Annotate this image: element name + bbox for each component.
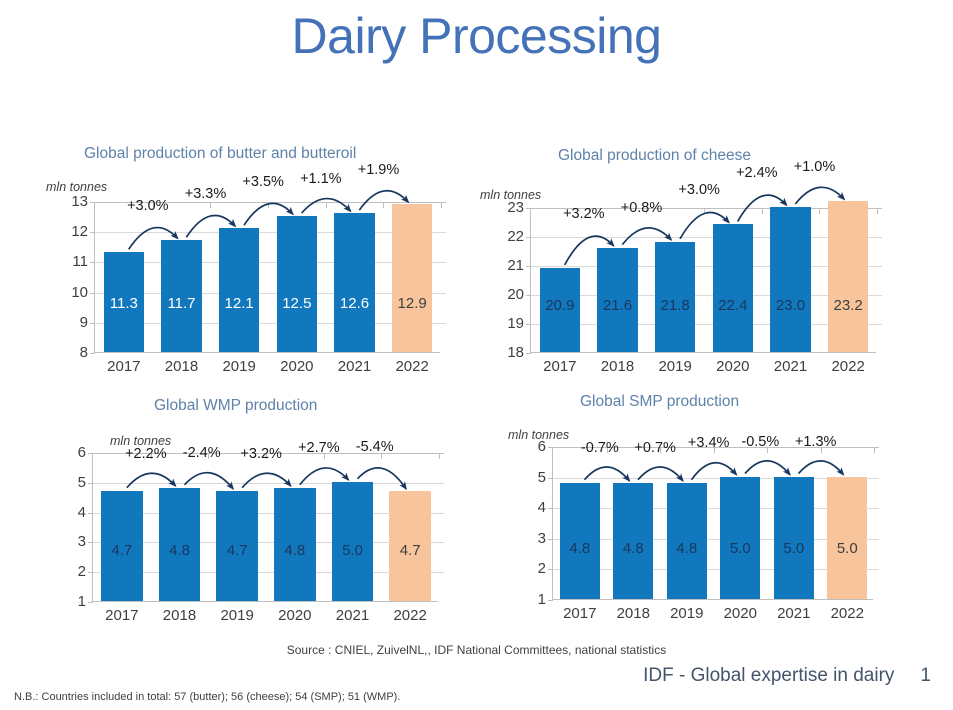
- growth-rate-label: +3.2%: [240, 446, 282, 462]
- growth-rate-label: -2.4%: [183, 445, 221, 461]
- y-axis-unit-label: mln tonnes: [46, 180, 107, 194]
- y-axis-tick-mark: [88, 453, 93, 454]
- y-axis-tick-label: 10: [71, 285, 88, 301]
- x-axis-tick-label: 2020: [704, 358, 762, 375]
- chart-cheese: Global production of cheese mln tonnes 2…: [480, 144, 930, 384]
- bar[interactable]: 21.6: [597, 248, 637, 352]
- bar-value-label: 23.0: [770, 298, 810, 314]
- bar-value-label: 11.3: [104, 296, 144, 312]
- bar[interactable]: 4.8: [667, 483, 707, 599]
- y-axis-tick-label: 23: [507, 200, 524, 216]
- growth-rate-label: +3.0%: [127, 198, 169, 214]
- bar-value-label: 12.5: [277, 296, 317, 312]
- y-axis-tick-mark: [548, 600, 553, 601]
- growth-rate-label: -5.4%: [356, 439, 394, 455]
- x-axis-separator: [439, 453, 440, 459]
- growth-rate-label: +3.0%: [678, 182, 720, 198]
- bar[interactable]: 4.8: [159, 488, 201, 601]
- bar[interactable]: 23.0: [770, 207, 810, 352]
- y-axis-tick-mark: [88, 542, 93, 543]
- y-axis-tick-mark: [526, 353, 531, 354]
- y-axis-tick-mark: [90, 353, 95, 354]
- x-axis-tick-label: 2021: [762, 358, 820, 375]
- bar-value-label: 22.4: [713, 298, 753, 314]
- y-axis-tick-label: 1: [538, 592, 546, 608]
- bar[interactable]: 21.8: [655, 242, 695, 352]
- bar-value-label: 4.7: [216, 543, 258, 559]
- x-axis-separator: [441, 202, 442, 208]
- bar[interactable]: 4.7: [101, 491, 143, 601]
- bar[interactable]: 4.8: [560, 483, 600, 599]
- growth-rate-label: -0.7%: [581, 440, 619, 456]
- y-axis-tick-mark: [90, 323, 95, 324]
- y-axis-tick-mark: [548, 508, 553, 509]
- x-axis-tick-label: 2022: [819, 358, 877, 375]
- bar-value-label: 12.1: [219, 296, 259, 312]
- y-axis-tick-mark: [90, 262, 95, 263]
- plot-area: 131211109811.3201711.7201812.1201912.520…: [94, 202, 440, 353]
- x-axis-tick-label: 2020: [714, 605, 768, 622]
- y-axis-tick-label: 13: [71, 194, 88, 210]
- x-axis-tick-label: 2017: [95, 358, 153, 375]
- bar-forecast[interactable]: 12.9: [392, 204, 432, 352]
- y-axis-tick-mark: [548, 478, 553, 479]
- bar-value-label: 11.7: [161, 296, 201, 312]
- x-axis-tick-label: 2022: [381, 607, 439, 624]
- chart-wmp: Global WMP production mln tonnes 6543214…: [44, 396, 444, 631]
- chart-title: Global production of butter and butteroi…: [84, 144, 484, 164]
- x-axis-tick-label: 2019: [646, 358, 704, 375]
- x-axis-separator: [762, 208, 763, 214]
- y-axis-tick-mark: [548, 539, 553, 540]
- y-axis-tick-label: 19: [507, 316, 524, 332]
- y-axis-tick-label: 8: [80, 345, 88, 361]
- x-axis-tick-label: 2020: [266, 607, 324, 624]
- page-number: 1: [920, 665, 931, 686]
- y-axis-tick-mark: [88, 602, 93, 603]
- y-axis-tick-mark: [548, 447, 553, 448]
- source-note: Source : CNIEL, ZuivelNL,, IDF National …: [0, 642, 953, 658]
- growth-rate-label: +0.8%: [621, 200, 663, 216]
- bar-value-label: 4.8: [560, 541, 600, 557]
- bar[interactable]: 4.7: [216, 491, 258, 601]
- y-axis-tick-label: 5: [538, 470, 546, 486]
- growth-rate-label: +3.5%: [242, 174, 284, 190]
- bar-value-label: 21.8: [655, 298, 695, 314]
- bar-value-label: 4.8: [667, 541, 707, 557]
- y-axis-tick-label: 18: [507, 345, 524, 361]
- bar[interactable]: 11.7: [161, 240, 201, 352]
- x-axis-tick-label: 2017: [531, 358, 589, 375]
- x-axis-separator: [704, 208, 705, 214]
- bar[interactable]: 5.0: [332, 482, 374, 601]
- y-axis-tick-label: 2: [78, 564, 86, 580]
- y-axis-tick-mark: [526, 208, 531, 209]
- growth-rate-label: +1.9%: [358, 162, 400, 178]
- x-axis-separator: [819, 208, 820, 214]
- y-axis-tick-label: 3: [538, 531, 546, 547]
- y-axis-tick-label: 11: [72, 254, 88, 270]
- x-axis-tick-label: 2018: [607, 605, 661, 622]
- chart-title: Global production of cheese: [558, 146, 953, 166]
- bar-value-label: 20.9: [540, 298, 580, 314]
- plot-area: 6543214.720174.820184.720194.820205.0202…: [92, 453, 438, 602]
- y-axis-tick-label: 6: [538, 439, 546, 455]
- y-axis-tick-label: 2: [538, 561, 546, 577]
- y-axis-tick-label: 5: [78, 475, 86, 491]
- growth-rate-label: +1.0%: [794, 159, 836, 175]
- x-axis-tick-label: 2017: [553, 605, 607, 622]
- plot-area: 23222120191820.9201721.6201821.8201922.4…: [530, 208, 876, 353]
- bar[interactable]: 5.0: [720, 477, 760, 599]
- x-axis-tick-label: 2018: [151, 607, 209, 624]
- x-axis-tick-label: 2019: [210, 358, 268, 375]
- y-axis-tick-mark: [90, 293, 95, 294]
- growth-rate-label: -0.5%: [741, 434, 779, 450]
- x-axis-separator: [383, 202, 384, 208]
- bar[interactable]: 20.9: [540, 268, 580, 352]
- bar-value-label: 4.7: [101, 543, 143, 559]
- x-axis-separator: [210, 202, 211, 208]
- growth-rate-label: +2.7%: [298, 440, 340, 456]
- x-axis-tick-label: 2021: [326, 358, 384, 375]
- growth-rate-label: +0.7%: [634, 440, 676, 456]
- x-axis-tick-label: 2017: [93, 607, 151, 624]
- bar-value-label: 4.8: [613, 541, 653, 557]
- y-axis-tick-mark: [526, 324, 531, 325]
- x-axis-tick-label: 2020: [268, 358, 326, 375]
- chart-smp: Global SMP production mln tonnes 6543214…: [488, 392, 938, 632]
- growth-rate-label: +2.4%: [736, 165, 778, 181]
- y-axis-tick-label: 21: [507, 258, 524, 274]
- bar-forecast[interactable]: 4.7: [389, 491, 431, 601]
- y-axis-tick-label: 6: [78, 445, 86, 461]
- y-axis-tick-label: 3: [78, 534, 86, 550]
- x-axis-tick-label: 2021: [324, 607, 382, 624]
- y-axis-tick-mark: [88, 572, 93, 573]
- bar[interactable]: 12.6: [334, 213, 374, 352]
- y-axis-tick-label: 4: [78, 505, 86, 521]
- x-axis-tick-label: 2022: [383, 358, 441, 375]
- bar-value-label: 4.8: [274, 543, 316, 559]
- bar-value-label: 5.0: [332, 543, 374, 559]
- y-axis-tick-label: 9: [80, 315, 88, 331]
- y-axis-tick-mark: [526, 295, 531, 296]
- bar-value-label: 12.9: [392, 296, 432, 312]
- y-axis-tick-label: 20: [507, 287, 524, 303]
- x-axis-tick-label: 2018: [589, 358, 647, 375]
- x-axis-tick-label: 2018: [153, 358, 211, 375]
- nb-note: N.B.: Countries included in total: 57 (b…: [14, 690, 400, 705]
- bar-value-label: 12.6: [334, 296, 374, 312]
- y-axis-tick-mark: [526, 266, 531, 267]
- bar-value-label: 23.2: [828, 298, 868, 314]
- bar[interactable]: 4.8: [613, 483, 653, 599]
- bar-forecast[interactable]: 5.0: [827, 477, 867, 599]
- y-axis-tick-mark: [88, 513, 93, 514]
- y-axis-tick-mark: [90, 202, 95, 203]
- x-axis-separator: [877, 208, 878, 214]
- growth-rate-label: +2.2%: [125, 446, 167, 462]
- bar-value-label: 5.0: [827, 541, 867, 557]
- page-title: Dairy Processing: [0, 6, 953, 66]
- growth-rate-label: +1.1%: [300, 171, 342, 187]
- y-axis-tick-mark: [548, 569, 553, 570]
- bar-value-label: 5.0: [774, 541, 814, 557]
- bar-forecast[interactable]: 23.2: [828, 201, 868, 352]
- x-axis-tick-label: 2019: [208, 607, 266, 624]
- growth-rate-label: +3.3%: [185, 186, 227, 202]
- footer-branding: IDF - Global expertise in dairy1: [643, 663, 931, 689]
- bar-value-label: 4.7: [389, 543, 431, 559]
- bar[interactable]: 12.1: [219, 228, 259, 352]
- y-axis-tick-mark: [526, 237, 531, 238]
- bar[interactable]: 4.8: [274, 488, 316, 601]
- chart-butter-and-butteroil: Global production of butter and butteroi…: [44, 144, 444, 384]
- footer-text: IDF - Global expertise in dairy: [643, 665, 894, 686]
- bar[interactable]: 22.4: [713, 224, 753, 352]
- x-axis-tick-label: 2019: [660, 605, 714, 622]
- y-axis-tick-label: 4: [538, 500, 546, 516]
- plot-area: 6543214.820174.820184.820195.020205.0202…: [552, 447, 873, 600]
- y-axis-tick-mark: [88, 483, 93, 484]
- growth-rate-label: +1.3%: [795, 434, 837, 450]
- y-axis-tick-mark: [90, 232, 95, 233]
- growth-rate-label: +3.2%: [563, 206, 605, 222]
- x-axis-separator: [268, 202, 269, 208]
- y-axis-tick-label: 12: [71, 224, 88, 240]
- y-axis-tick-label: 1: [78, 594, 86, 610]
- bar[interactable]: 11.3: [104, 252, 144, 352]
- x-axis-tick-label: 2022: [821, 605, 875, 622]
- chart-title: Global SMP production: [580, 392, 953, 412]
- bar[interactable]: 12.5: [277, 216, 317, 352]
- y-axis-tick-label: 22: [507, 229, 524, 245]
- gridline: [93, 483, 444, 484]
- bar[interactable]: 5.0: [774, 477, 814, 599]
- x-axis-separator: [874, 447, 875, 453]
- x-axis-tick-label: 2021: [767, 605, 821, 622]
- bar-value-label: 5.0: [720, 541, 760, 557]
- bar-value-label: 4.8: [159, 543, 201, 559]
- x-axis-separator: [326, 202, 327, 208]
- growth-rate-label: +3.4%: [688, 435, 730, 451]
- bar-value-label: 21.6: [597, 298, 637, 314]
